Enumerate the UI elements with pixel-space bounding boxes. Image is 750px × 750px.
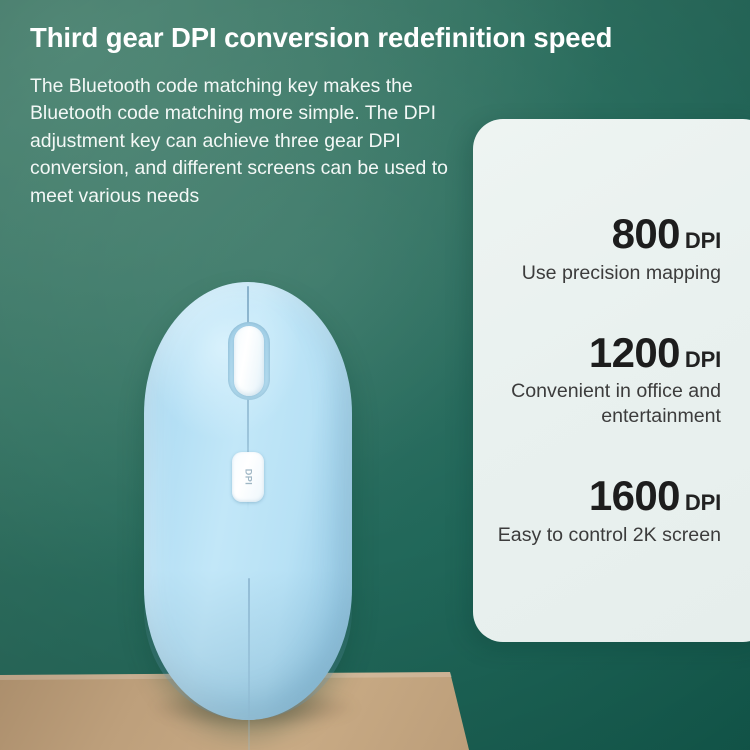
spec-item-1600: 1600 DPI Easy to control 2K screen [491, 475, 721, 548]
spec-number-800: 800 [612, 213, 680, 256]
spec-number-1600: 1600 [589, 475, 680, 518]
dpi-spec-card: 800 DPI Use precision mapping 1200 DPI C… [473, 119, 750, 642]
spec-unit-800: DPI [685, 228, 721, 254]
spec-description-1200: Convenient in office and entertainment [491, 379, 721, 429]
body-description: The Bluetooth code matching key makes th… [30, 73, 455, 210]
spec-description-1600: Easy to control 2K screen [491, 523, 721, 548]
dpi-button-label: DPI [243, 469, 253, 486]
spec-number-1200: 1200 [589, 332, 680, 375]
scroll-wheel [234, 326, 264, 396]
spec-description-800: Use precision mapping [491, 261, 721, 286]
spec-unit-1200: DPI [685, 347, 721, 373]
product-feature-banner: DPI Third gear DPI conversion redefiniti… [0, 0, 750, 750]
spec-item-800: 800 DPI Use precision mapping [491, 213, 721, 286]
spec-value-row-1600: 1600 DPI [491, 475, 721, 518]
page-title: Third gear DPI conversion redefinition s… [30, 22, 730, 54]
spec-value-row-800: 800 DPI [491, 213, 721, 256]
mouse-product-image: DPI [144, 282, 352, 720]
spec-value-row-1200: 1200 DPI [491, 332, 721, 375]
spec-item-1200: 1200 DPI Convenient in office and entert… [491, 332, 721, 430]
mouse-bottom-seam-line [248, 578, 250, 750]
dpi-button: DPI [232, 452, 264, 502]
spec-unit-1600: DPI [685, 490, 721, 516]
